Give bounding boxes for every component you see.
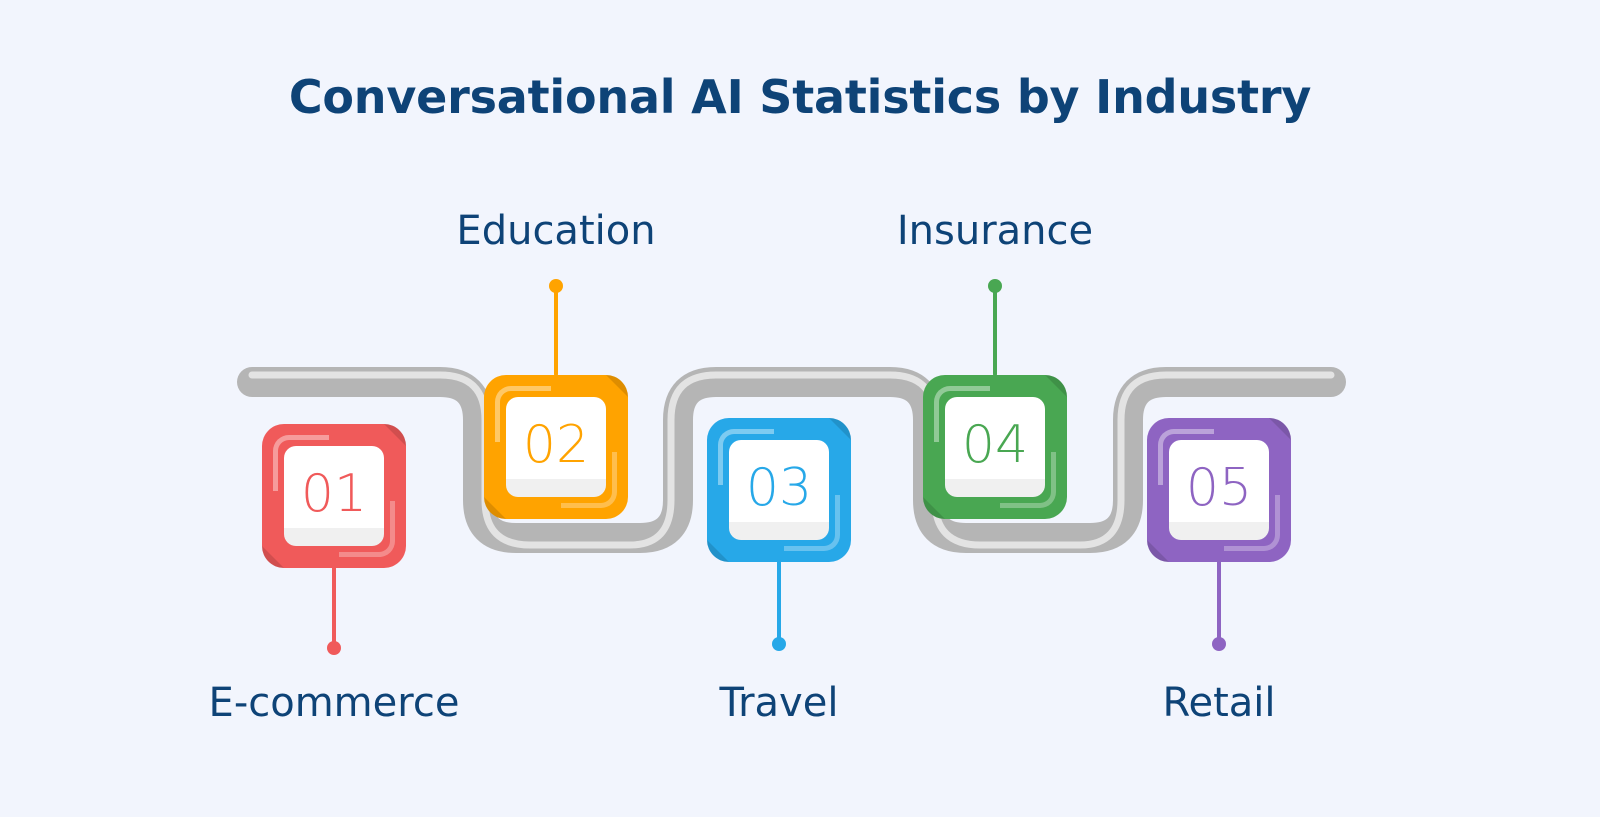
step-04-box[interactable]: 04 [923, 375, 1067, 519]
bevel-icon [606, 375, 628, 397]
step-01-connector-line [332, 565, 336, 650]
step-02-box[interactable]: 02 [484, 375, 628, 519]
step-05-label: Retail [1019, 680, 1419, 726]
step-01-number: 01 [301, 468, 367, 520]
step-05-number-plate: 05 [1169, 440, 1269, 540]
step-01-connector-dot [327, 641, 341, 655]
step-01-box[interactable]: 01 [262, 424, 406, 568]
step-02[interactable]: 02 [484, 375, 628, 519]
bevel-icon [1269, 418, 1291, 440]
infographic-canvas: Conversational AI Statistics by Industry… [0, 0, 1600, 817]
step-02-connector-line [554, 286, 558, 376]
step-03-connector-dot [772, 637, 786, 651]
bevel-icon [262, 546, 284, 568]
step-03-number: 03 [746, 462, 812, 514]
step-05-connector-line [1217, 559, 1221, 644]
bevel-icon [829, 418, 851, 440]
step-02-connector-dot [549, 279, 563, 293]
step-03[interactable]: 03 [707, 418, 851, 562]
bevel-icon [1045, 375, 1067, 397]
bevel-icon [1147, 540, 1169, 562]
step-01-label: E-commerce [134, 680, 534, 726]
step-02-number-plate: 02 [506, 397, 606, 497]
step-04-connector-dot [988, 279, 1002, 293]
step-03-box[interactable]: 03 [707, 418, 851, 562]
step-05[interactable]: 05 [1147, 418, 1291, 562]
step-04-number-plate: 04 [945, 397, 1045, 497]
step-02-label: Education [356, 208, 756, 254]
step-03-connector-line [777, 559, 781, 644]
bevel-icon [384, 424, 406, 446]
bevel-icon [707, 540, 729, 562]
step-05-connector-dot [1212, 637, 1226, 651]
bevel-icon [484, 497, 506, 519]
step-04-number: 04 [962, 419, 1028, 471]
step-05-box[interactable]: 05 [1147, 418, 1291, 562]
bevel-icon [923, 497, 945, 519]
step-02-number: 02 [523, 419, 589, 471]
step-05-number: 05 [1186, 462, 1252, 514]
page-title: Conversational AI Statistics by Industry [0, 70, 1600, 124]
step-03-number-plate: 03 [729, 440, 829, 540]
step-04[interactable]: 04 [923, 375, 1067, 519]
step-01-number-plate: 01 [284, 446, 384, 546]
step-01[interactable]: 01 [262, 424, 406, 568]
step-04-label: Insurance [795, 208, 1195, 254]
step-03-label: Travel [579, 680, 979, 726]
step-04-connector-line [993, 286, 997, 376]
